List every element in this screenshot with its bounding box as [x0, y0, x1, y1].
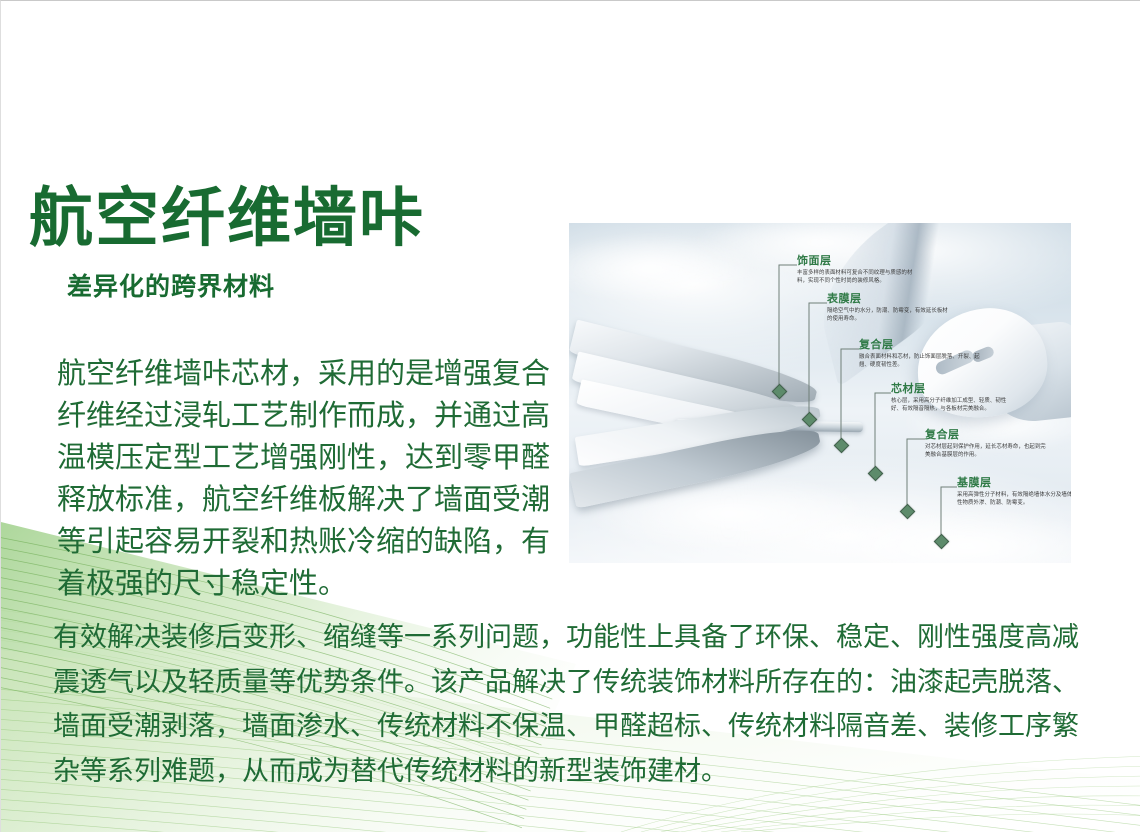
callout-layer-4: 芯材层 核心层，采用高分子纤维加工成型、轻质、韧性好、有效隔音隔热，与各板材完美…: [891, 383, 1013, 414]
callout-desc: 对芯材层起到保护作用，延长芯材寿命，也起到完美融合基膜层的作用。: [925, 443, 1047, 460]
page-subtitle: 差异化的跨界材料: [67, 267, 549, 303]
callout-desc: 核心层，采用高分子纤维加工成型、轻质、韧性好、有效隔音隔热，与各板材完美融合。: [891, 397, 1013, 414]
callout-layer-1: 饰面层 丰富多样的表面材料可复合不同纹理与质感的材料，实现不同个性时尚的装修风格…: [797, 255, 919, 286]
callout-title: 芯材层: [891, 383, 1013, 395]
callout-desc: 融合表面材料和芯材，防止饰面层脱落、开裂、起翘、硬度韧性差。: [859, 353, 981, 370]
callout-layer-5: 复合层 对芯材层起到保护作用，延长芯材寿命，也起到完美融合基膜层的作用。: [925, 429, 1047, 460]
callout-layer-6: 基膜层 采用高弹性分子材料，有效隔绝墙体水分及墙体碱性物质外渗、防潮、防霉变。: [957, 477, 1071, 508]
title-block: 航空纤维墙咔 差异化的跨界材料: [29, 187, 549, 303]
intro-paragraph: 航空纤维墙咔芯材，采用的是增强复合纤维经过浸轧工艺制作而成，并通过高温模压定型工…: [57, 352, 557, 604]
callout-title: 复合层: [859, 339, 981, 351]
callout-title: 饰面层: [797, 255, 919, 267]
callout-title: 复合层: [925, 429, 1047, 441]
callout-layer-2: 表膜层 隔绝空气中的水分，防潮、防霉变，有效延长板材的使用寿命。: [827, 293, 949, 324]
callout-layer-3: 复合层 融合表面材料和芯材，防止饰面层脱落、开裂、起翘、硬度韧性差。: [859, 339, 981, 370]
callout-title: 基膜层: [957, 477, 1071, 489]
poster-canvas: 航空纤维墙咔 差异化的跨界材料 航空纤维墙咔芯材，采用的是增强复合纤维经过浸轧工…: [0, 0, 1140, 832]
page-title: 航空纤维墙咔: [29, 187, 549, 251]
layered-panel-diagram: 饰面层 丰富多样的表面材料可复合不同纹理与质感的材料，实现不同个性时尚的装修风格…: [569, 223, 1071, 563]
callout-title: 表膜层: [827, 293, 949, 305]
body-paragraph: 有效解决装修后变形、缩缝等一系列问题，功能性上具备了环保、稳定、刚性强度高减震透…: [53, 616, 1103, 794]
callout-desc: 丰富多样的表面材料可复合不同纹理与质感的材料，实现不同个性时尚的装修风格。: [797, 269, 919, 286]
callout-desc: 隔绝空气中的水分，防潮、防霉变，有效延长板材的使用寿命。: [827, 307, 949, 324]
callout-desc: 采用高弹性分子材料，有效隔绝墙体水分及墙体碱性物质外渗、防潮、防霉变。: [957, 491, 1071, 508]
